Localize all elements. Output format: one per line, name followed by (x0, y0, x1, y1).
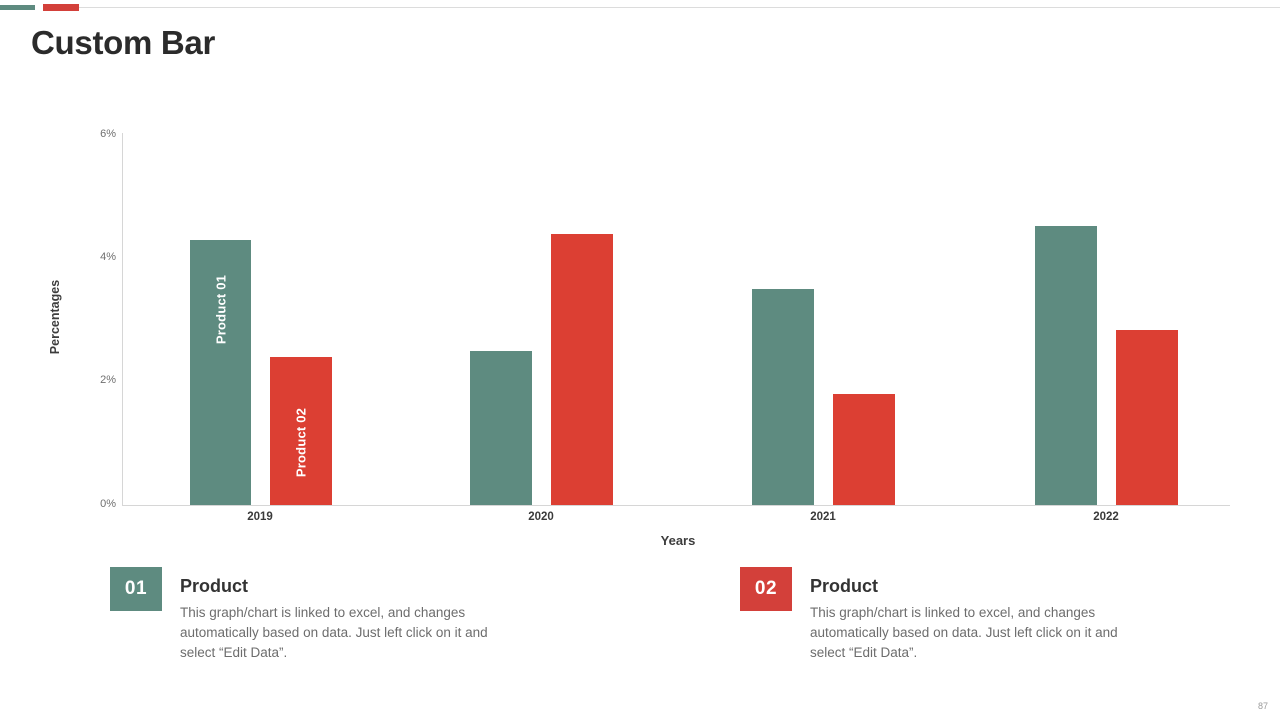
x-tick-label-2022: 2022 (1046, 511, 1166, 523)
legend-title-02: Product (810, 576, 878, 597)
bar-2019-product-01[interactable]: Product 01 (190, 240, 251, 505)
legend-description-01: This graph/chart is linked to excel, and… (180, 603, 525, 663)
x-tick-label-2020: 2020 (481, 511, 601, 523)
legend-badge-02: 02 (740, 567, 792, 611)
bar-label-product-02: Product 02 (294, 408, 309, 477)
y-tick-label-2: 2% (72, 374, 116, 386)
page-number: 87 (1258, 701, 1268, 711)
legend-description-02: This graph/chart is linked to excel, and… (810, 603, 1155, 663)
bar-label-product-01: Product 01 (213, 275, 228, 344)
y-tick-label-4: 4% (72, 251, 116, 263)
bar-2020-product-01[interactable] (470, 351, 532, 505)
bar-2021-product-01[interactable] (752, 289, 814, 505)
legend-title-01: Product (180, 576, 248, 597)
bar-2021-product-02[interactable] (833, 394, 895, 505)
bar-2022-product-01[interactable] (1035, 226, 1097, 505)
x-axis-title: Years (593, 533, 763, 548)
y-tick-label-6: 6% (72, 128, 116, 140)
bar-2019-product-02[interactable]: Product 02 (270, 357, 332, 505)
y-axis-line (122, 133, 123, 506)
y-tick-label-0: 0% (72, 498, 116, 510)
bar-2020-product-02[interactable] (551, 234, 613, 505)
y-axis-title: Percentages (48, 257, 62, 377)
bar-2022-product-02[interactable] (1116, 330, 1178, 505)
x-tick-label-2019: 2019 (200, 511, 320, 523)
x-tick-label-2021: 2021 (763, 511, 883, 523)
legend-badge-01: 01 (110, 567, 162, 611)
x-axis-line (122, 505, 1230, 506)
